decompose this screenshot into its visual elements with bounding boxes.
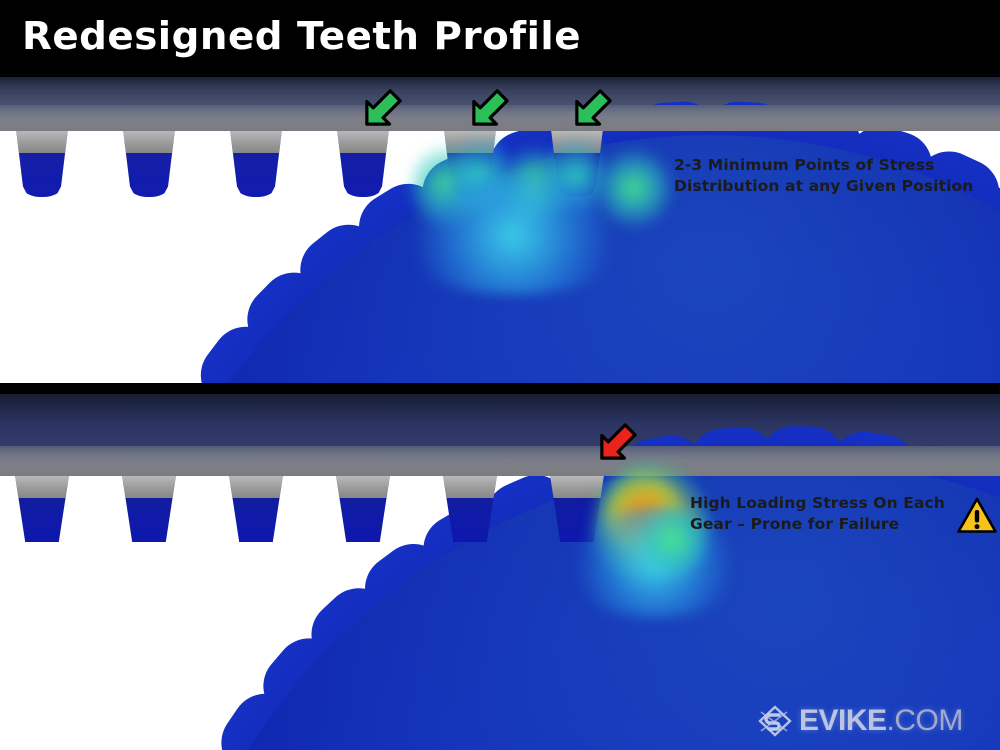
rack-tooth [442, 131, 498, 197]
rack-tooth-cap [335, 131, 391, 153]
rack-tooth [121, 476, 177, 542]
rack-tooth [228, 476, 284, 542]
rack-tooth-cap [14, 476, 70, 498]
simulation-infographic: Redesigned Teeth Profile [0, 0, 1000, 750]
rack-tooth-cap [228, 476, 284, 498]
callout-original: High Loading Stress On Each Gear – Prone… [690, 493, 945, 535]
callout-redesigned: 2-3 Minimum Points of Stress Distributio… [674, 155, 973, 197]
evike-logo-icon [757, 704, 793, 738]
rack-tooth-cap [549, 131, 605, 153]
evike-watermark-text: EVIKE.COM [799, 704, 963, 738]
rack-tooth-cap [121, 131, 177, 153]
title-bar: Redesigned Teeth Profile [0, 0, 1000, 77]
rack-tooth [228, 131, 284, 197]
panel-original-profile [0, 394, 1000, 750]
rack-tooth [335, 476, 391, 542]
rack-tooth-cap [442, 476, 498, 498]
rack-tooth-cap [335, 476, 391, 498]
rack-tooth [335, 131, 391, 197]
evike-watermark-primary: EVIKE [799, 704, 887, 737]
rack-tooth [121, 131, 177, 197]
stress-arrow-2 [464, 86, 512, 134]
rack-bar-original [0, 446, 1000, 476]
page-title: Redesigned Teeth Profile [22, 12, 581, 60]
rack-tooth [549, 476, 605, 542]
evike-watermark: EVIKE.COM [757, 700, 963, 742]
rack-tooth-cap [442, 131, 498, 153]
panel-redesigned-profile [0, 77, 1000, 383]
rack-tooth [549, 131, 605, 197]
rack-tooth [14, 131, 70, 197]
rack-tooth [442, 476, 498, 542]
failure-arrow-1 [592, 420, 640, 468]
rack-tooth-cap [121, 476, 177, 498]
evike-watermark-secondary: .COM [887, 704, 963, 737]
rack-tooth-cap [549, 476, 605, 498]
stress-arrow-1 [357, 86, 405, 134]
rack-tooth [14, 476, 70, 542]
panel-divider [0, 383, 1000, 394]
rack-tooth-cap [14, 131, 70, 153]
rack-bar-shading [0, 446, 1000, 476]
stress-arrow-3 [567, 86, 615, 134]
rack-tooth-cap [228, 131, 284, 153]
warning-triangle-icon [957, 497, 997, 534]
